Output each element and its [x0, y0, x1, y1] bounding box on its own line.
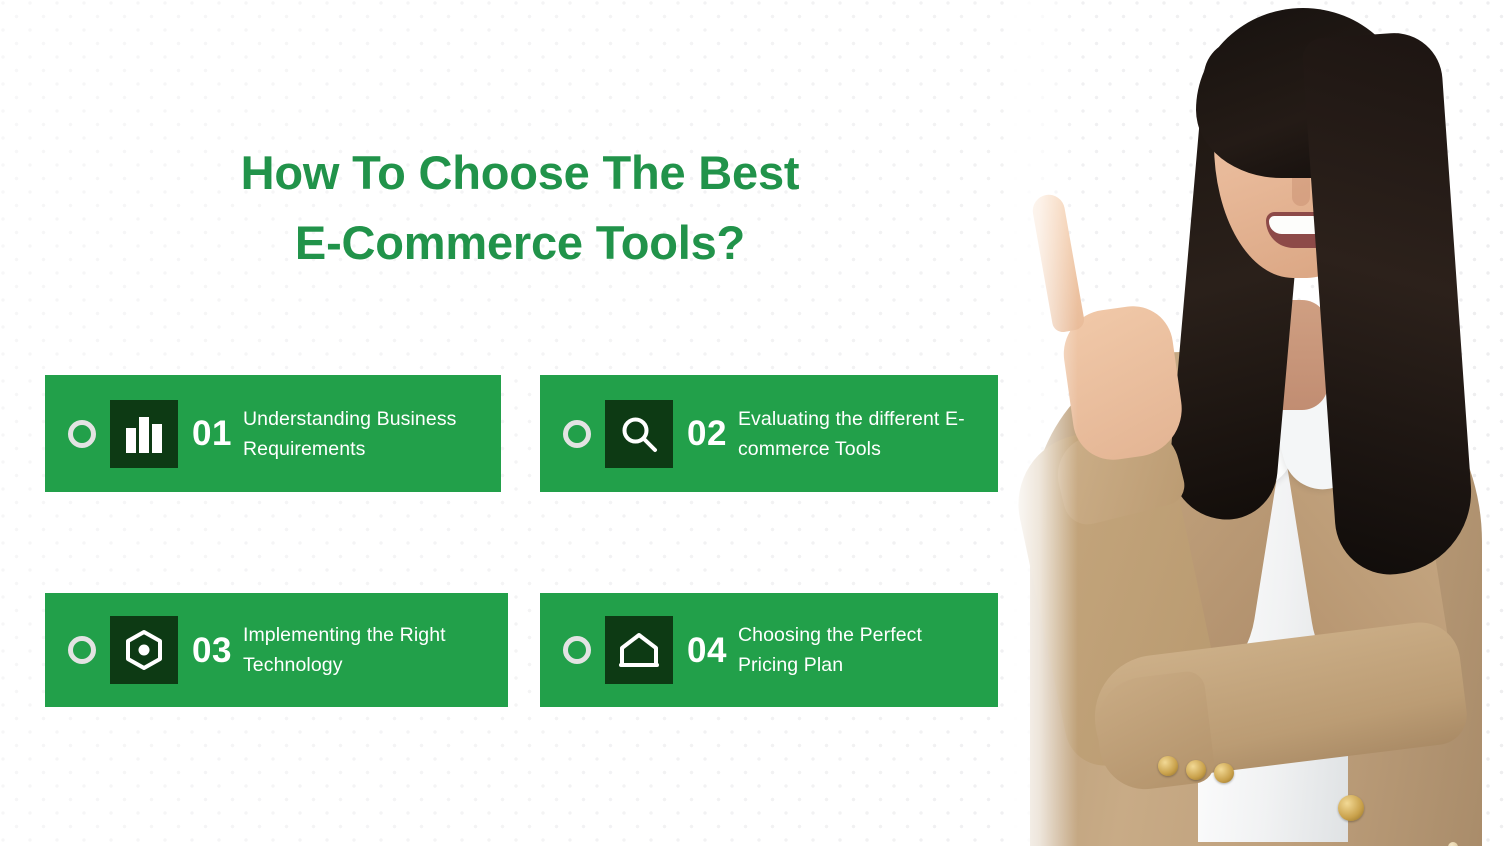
gold-cuff-button — [1158, 756, 1178, 776]
step-text-03: Implementing the Right Technology — [243, 620, 489, 680]
circle-outline-icon — [563, 636, 591, 664]
step-number-04: 04 — [687, 633, 727, 668]
hexagon-nut-icon — [110, 616, 178, 684]
bar-chart-icon — [110, 400, 178, 468]
page-title: How To Choose The Best E-Commerce Tools? — [0, 138, 1040, 278]
step-text-04: Choosing the Perfect Pricing Plan — [738, 620, 984, 680]
gold-cuff-button — [1186, 760, 1206, 780]
infographic-canvas: How To Choose The Best E-Commerce Tools?… — [0, 0, 1504, 846]
step-number-03: 03 — [192, 633, 232, 668]
photo-edge-fade — [1008, 0, 1078, 846]
search-icon — [605, 400, 673, 468]
page-title-line-2: E-Commerce Tools? — [0, 208, 1040, 278]
step-text-02: Evaluating the different E-commerce Tool… — [738, 404, 990, 464]
circle-outline-icon — [68, 420, 96, 448]
step-card-04[interactable]: 04 Choosing the Perfect Pricing Plan — [540, 593, 998, 707]
gold-cuff-button — [1214, 763, 1234, 783]
step-card-03[interactable]: 03 Implementing the Right Technology — [45, 593, 508, 707]
step-text-01: Understanding Business Requirements — [243, 404, 493, 464]
step-card-01[interactable]: 01 Understanding Business Requirements — [45, 375, 501, 492]
page-title-line-1: How To Choose The Best — [0, 138, 1040, 208]
gold-blazer-button — [1338, 795, 1364, 821]
circle-outline-icon — [563, 420, 591, 448]
step-card-02[interactable]: 02 Evaluating the different E-commerce T… — [540, 375, 998, 492]
circle-outline-icon — [68, 636, 96, 664]
presenter-photo — [1008, 0, 1504, 846]
shirt-button — [1448, 842, 1458, 846]
step-number-01: 01 — [192, 416, 232, 451]
step-number-02: 02 — [687, 416, 727, 451]
home-icon — [605, 616, 673, 684]
